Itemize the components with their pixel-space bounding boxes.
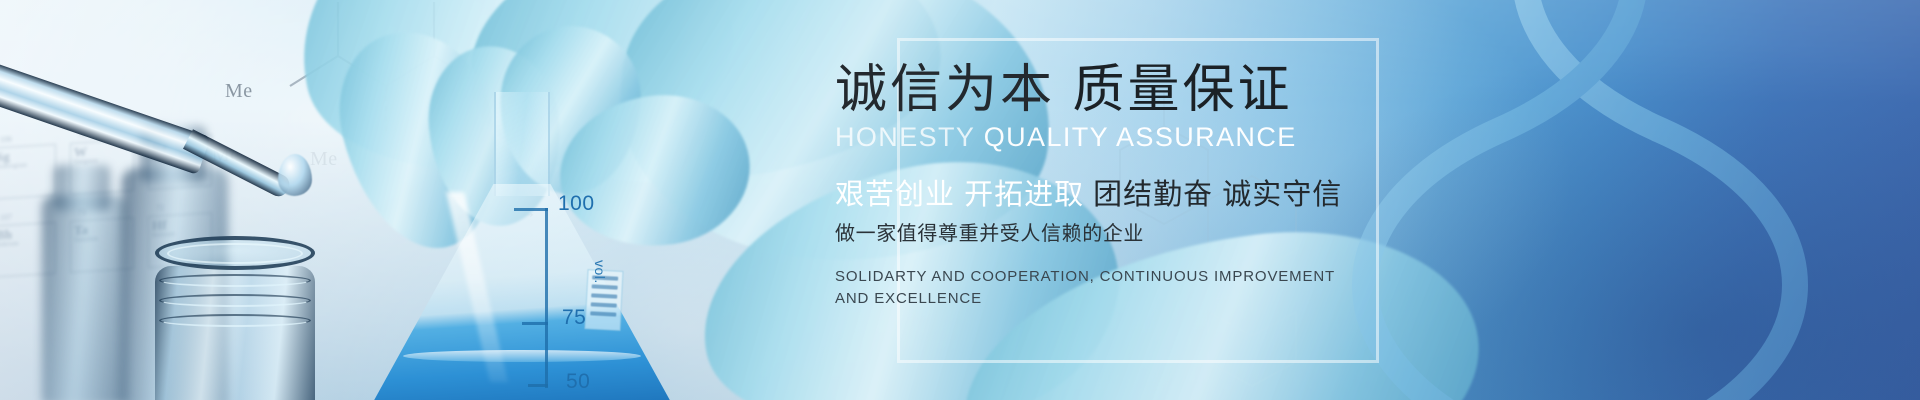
glass-jar-foreground xyxy=(155,236,315,400)
motto-line: 艰苦创业 开拓进取 团结勤奋 诚实守信 xyxy=(835,171,1535,213)
graduation-tick xyxy=(522,322,548,325)
motto-4: 诚实守信 xyxy=(1222,179,1342,211)
footer-english-text: SOLIDARTY AND COOPERATION, CONTINUOUS IM… xyxy=(835,266,1535,310)
periodic-symbol: Bh xyxy=(0,227,12,243)
graduation-unit-label: vol. xyxy=(592,260,608,284)
motto-2: 开拓进取 xyxy=(964,179,1084,211)
graduation-label-75: 75 xyxy=(562,306,586,330)
jar-rim-inner xyxy=(167,243,303,264)
motto-3: 团结勤奋 xyxy=(1093,179,1213,211)
motto-1: 艰苦创业 xyxy=(835,179,955,211)
jar-thread xyxy=(159,274,311,287)
graduation-axis xyxy=(545,208,548,388)
pipette-barrel xyxy=(0,53,210,175)
pipette-dropper xyxy=(0,42,290,222)
jar-thread xyxy=(159,314,311,327)
jar-thread xyxy=(159,294,311,307)
english-subtitle-part-2: QUALITY ASSURANCE xyxy=(984,122,1297,152)
headline-part-1: 诚信为本 xyxy=(835,61,1055,119)
english-subtitle-part-1: HONESTY xyxy=(835,122,975,152)
banner-copy-block: 诚信为本 质量保证 HONESTY QUALITY ASSURANCE 艰苦创业… xyxy=(835,62,1535,310)
blurred-bottle-back-left xyxy=(42,195,126,400)
headline-part-2: 质量保证 xyxy=(1072,61,1292,119)
tagline: 做一家值得尊重并受人信赖的企业 xyxy=(835,217,1535,246)
graduation-tick xyxy=(528,384,548,387)
erlenmeyer-flask: 100 75 50 vol. xyxy=(372,92,672,400)
headline-english-subtitle: HONESTY QUALITY ASSURANCE xyxy=(835,122,1535,153)
hero-banner: 106 Sg Seaborgium 74 W Tungsten 75 Re Rh… xyxy=(0,0,1920,400)
headline: 诚信为本 质量保证 xyxy=(835,62,1535,118)
flask-graduation-marks: 100 75 50 vol. xyxy=(372,92,672,400)
graduation-label-100: 100 xyxy=(558,192,595,216)
graduation-tick xyxy=(514,208,548,211)
graduation-label-50: 50 xyxy=(566,370,590,394)
